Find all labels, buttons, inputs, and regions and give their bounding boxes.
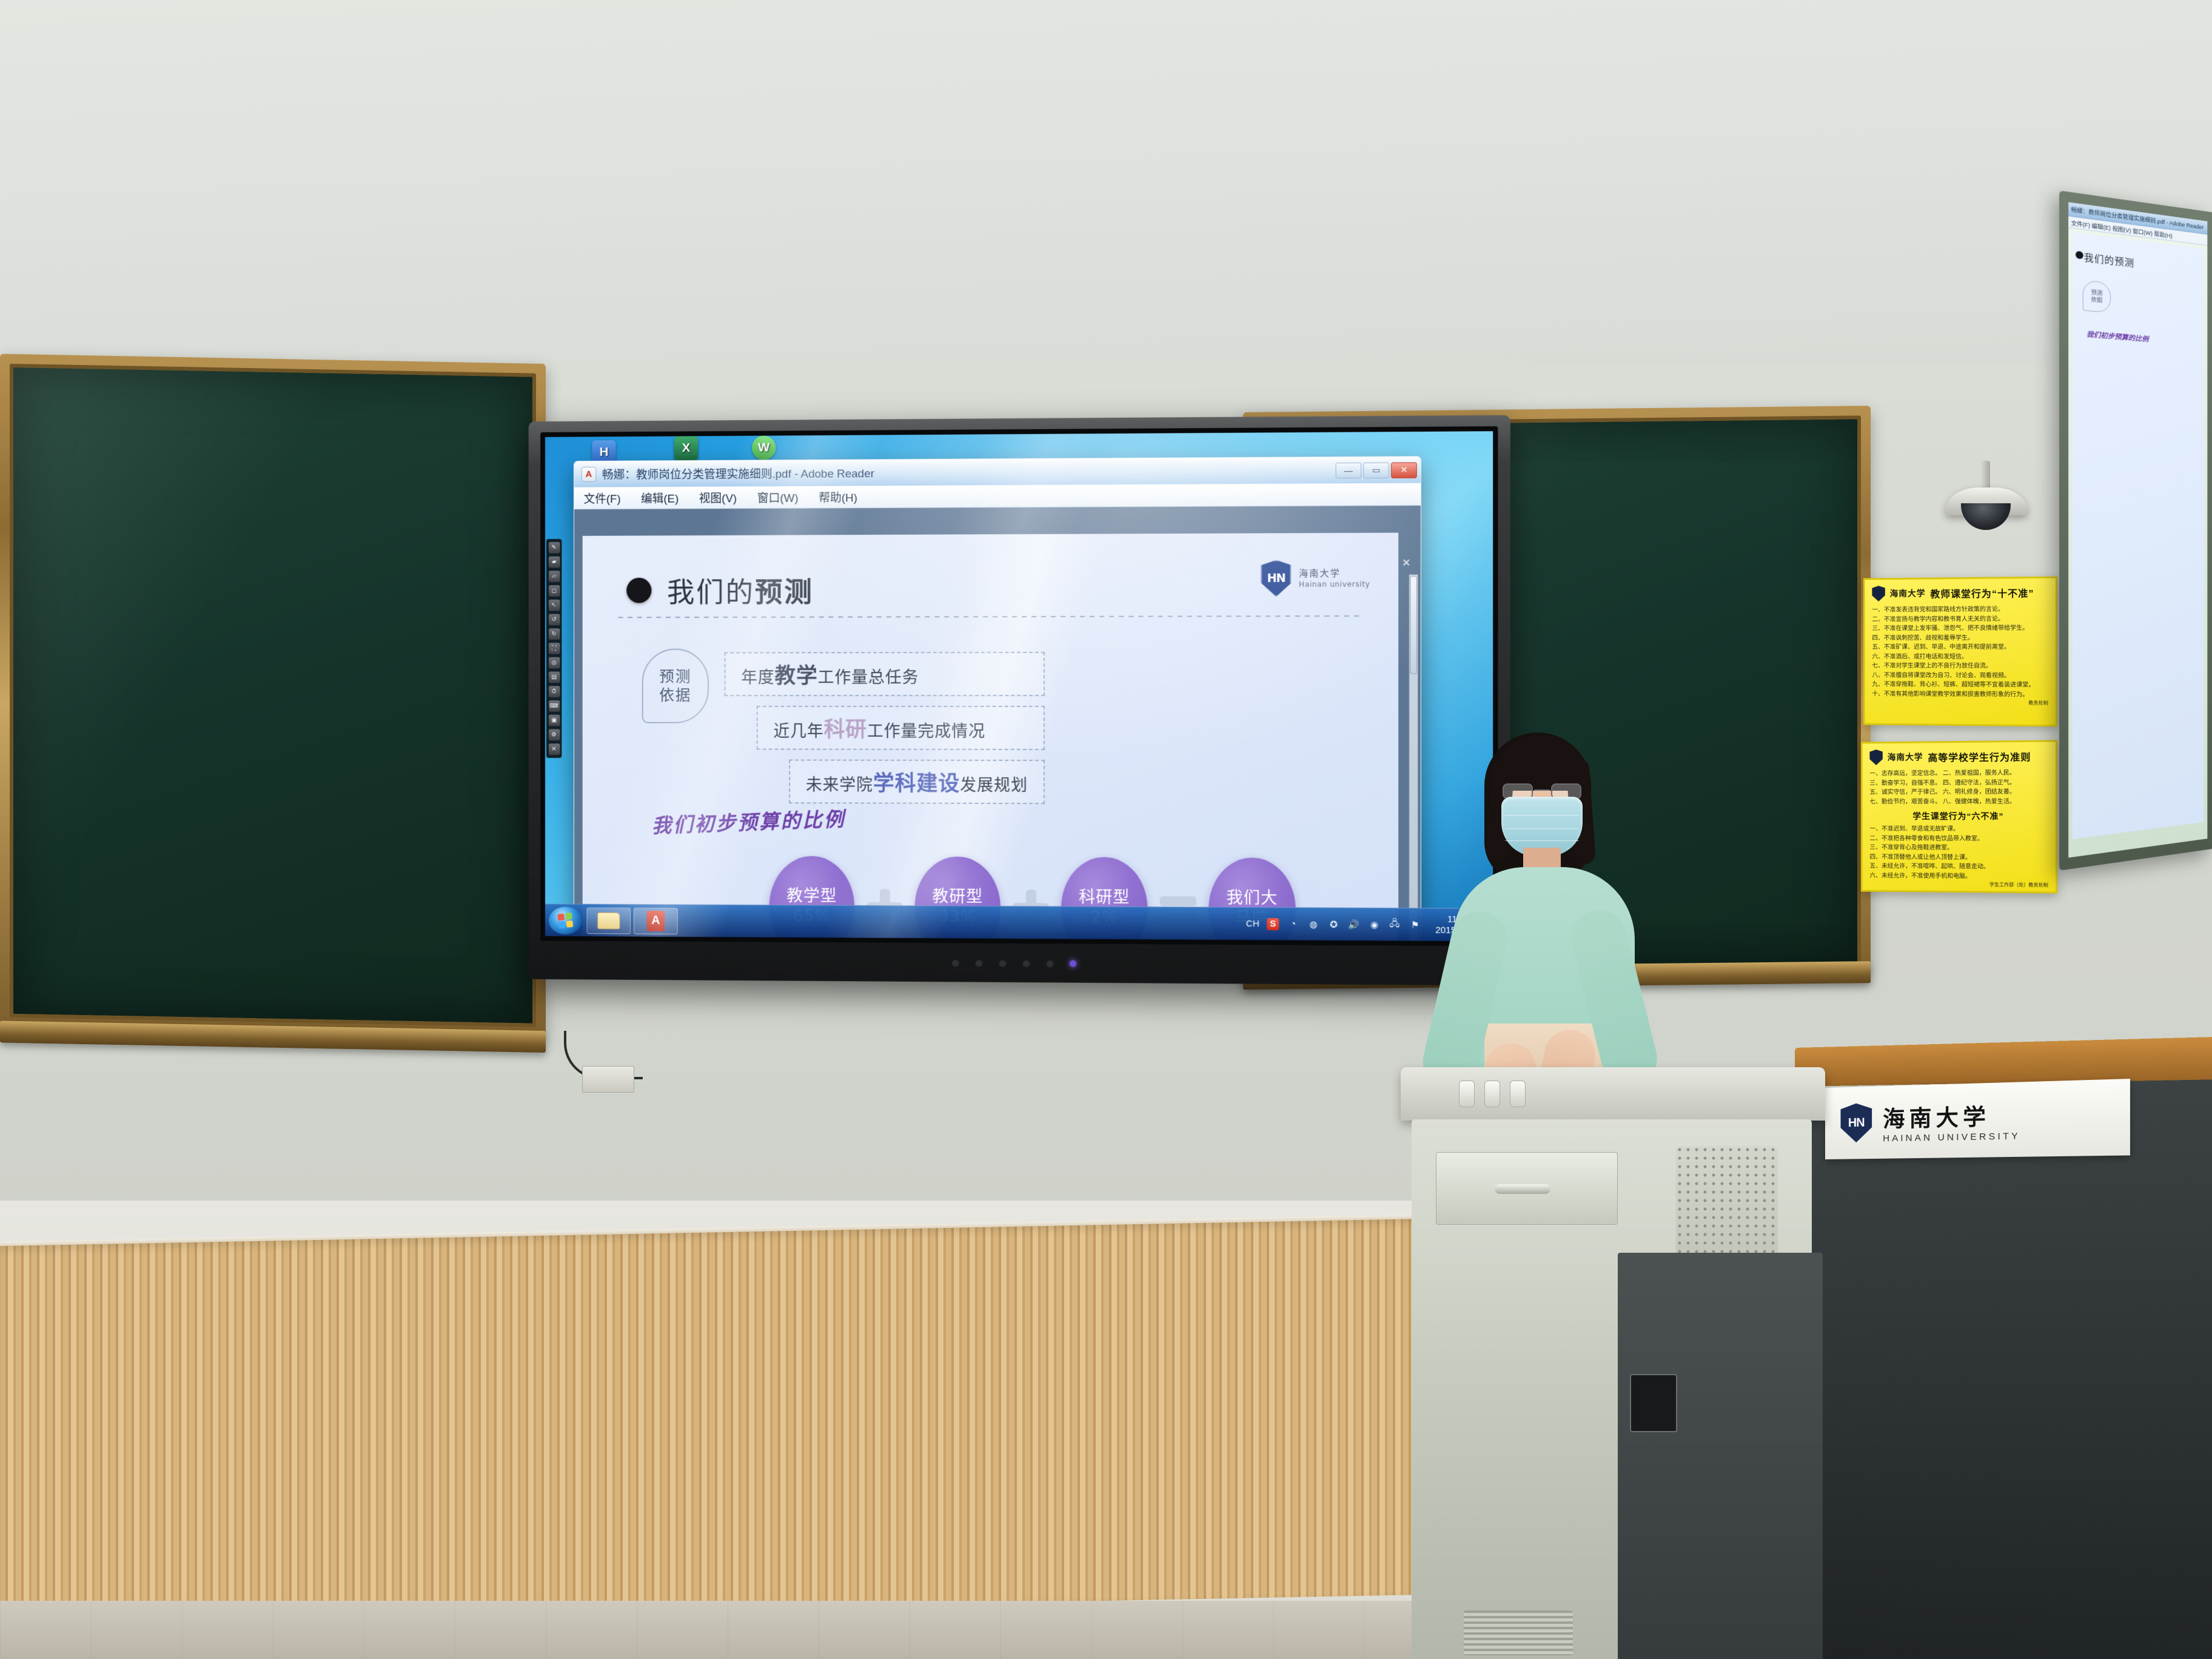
slide-title-accent: 预测 (755, 575, 814, 608)
taskbar-adobe-reader[interactable]: A (634, 907, 678, 934)
timer-icon[interactable]: ⏱ (548, 686, 560, 697)
eraser-icon[interactable]: ▱ (548, 571, 560, 582)
basis-post: 发展规划 (960, 776, 1028, 795)
panel-control-strip[interactable] (529, 940, 1510, 985)
student-conduct-poster: 海南大学 高等学校学生行为准则 一、志存高远，坚定信念。 二、热爱祖国，服务人民… (1861, 740, 2057, 893)
windows-taskbar[interactable]: A CH S ◔ ◍ ✪ 🔊 ◉ 🖧 ⚑ 11:32 2015/10/31 (545, 903, 1493, 941)
lectern-button[interactable] (1510, 1081, 1526, 1107)
teacher-conduct-poster: 海南大学 教师课堂行为“十不准” 一、不准发表违背党和国家路线方针政策的言论。 … (1863, 577, 2057, 727)
poster-line: 十、不准有其他影响课堂教学效果和损害教师形象的行为。 (1872, 689, 2048, 700)
panel-source-button[interactable] (999, 959, 1007, 967)
excel-desktop-icon[interactable]: X (664, 436, 708, 462)
security-tray-icon[interactable]: ✪ (1327, 918, 1339, 930)
select-icon[interactable]: ↖ (548, 600, 560, 611)
wood-wainscot (0, 1218, 1498, 1622)
bubble-label: 科研型 (1079, 888, 1130, 908)
nameplate-cn: 海南大学 (1883, 1098, 2020, 1133)
poster-title: 教师课堂行为“十不准” (1930, 585, 2034, 600)
start-button[interactable] (549, 907, 582, 934)
logo-names: 海南大学 Hainan university (1299, 567, 1370, 589)
spotlight-icon[interactable]: ◎ (548, 657, 560, 669)
language-indicator[interactable]: CH (1247, 917, 1259, 930)
maximize-button[interactable]: ▭ (1363, 462, 1389, 478)
pdf-slide-page: 我们的预测 HN 海南大学 Hainan university (583, 533, 1399, 942)
camera-icon[interactable]: ▣ (548, 715, 560, 726)
hainan-university-nameplate: HN 海南大学 HAINAN UNIVERSITY (1825, 1079, 2130, 1159)
basis-label-line-1: 预测 (659, 667, 691, 686)
interactive-flat-panel[interactable]: H X W PDF Q E 360 (529, 415, 1510, 986)
drawer-handle[interactable] (1495, 1184, 1550, 1194)
document-close-icon[interactable]: ✕ (1402, 557, 1411, 569)
basis-pre: 近几年 (773, 722, 823, 741)
folder-icon (597, 912, 620, 929)
secondary-handwriting: 我们初步预算的比例 (2086, 329, 2148, 344)
poster-line: 六、不准酒后、或打电话和发短信。 (1872, 652, 2048, 662)
lectern-button[interactable] (1484, 1081, 1500, 1107)
menu-edit[interactable]: 编辑(E) (641, 490, 679, 506)
basis-pre: 未来学院 (806, 776, 873, 794)
hn-shield-icon (1872, 586, 1885, 602)
poster-sub-line: 六、未经允许，不准使用手机和电脑。 (1869, 871, 2048, 882)
handwritten-note: 我们初步预算的比例 (651, 803, 846, 839)
poster-signature: 学生工作部（处）教务处制 (1869, 880, 2048, 890)
poster-org: 海南大学 (1888, 751, 1923, 763)
basis-label-line-2: 依据 (659, 686, 691, 705)
secondary-slide: 我们的预测 预测 依据 我们初步预算的比例 (2073, 232, 2204, 839)
reader-title-bar[interactable]: A 畅娜：教师岗位分类管理实施细则.pdf - Adobe Reader — ▭… (574, 457, 1421, 488)
reader-document-area: ✕ 我们的预测 HN 海南大 (574, 506, 1421, 941)
basis-highlight: 教学 (774, 664, 817, 688)
menu-view[interactable]: 视图(V) (699, 489, 737, 506)
poster-sub-line: 二、不准把各种零食和有色饮品带入教室。 (1869, 834, 2048, 843)
poster-header: 海南大学 高等学校学生行为准则 (1869, 748, 2048, 765)
window-controls[interactable]: — ▭ ✕ (1336, 462, 1417, 478)
hainan-university-logo: HN 海南大学 Hainan university (1261, 560, 1370, 597)
shape-icon[interactable]: ◻ (548, 585, 560, 597)
lectern-top-surface[interactable] (1401, 1067, 1825, 1121)
poster-line: 九、不准穿拖鞋、背心衫、短裤、超短裙等不宜着装进课堂。 (1872, 680, 2048, 690)
slide-divider (618, 615, 1362, 618)
basis-pre: 年度 (741, 668, 774, 687)
bubble-label: 教研型 (932, 887, 983, 907)
panel-status-led-icon (1070, 960, 1076, 967)
poster-sub-line: 四、不准顶替他人或让他人顶替上课。 (1869, 853, 2048, 863)
secondary-display[interactable]: 畅娜：教师岗位分类管理实施细则.pdf - Adobe Reader 文件(F)… (2059, 190, 2212, 871)
curtain-icon[interactable]: ▤ (548, 672, 560, 683)
excel-icon: X (674, 436, 698, 460)
poster-sub-line: 一、不准迟到、早退或无故旷课。 (1869, 825, 2048, 834)
antivirus-tray-icon[interactable]: ◉ (1368, 918, 1380, 930)
lectern-equipment-bay (1618, 1253, 1823, 1659)
disc-tray-icon[interactable]: ◍ (1307, 918, 1319, 930)
prediction-basis-list: 年度教学工作量总任务 近几年科研工作量完成情况 未来学院学科建设发展规划 (725, 648, 1045, 804)
slide-header: 我们的预测 (626, 570, 814, 610)
highlighter-icon[interactable]: ▰ (548, 557, 560, 568)
secondary-basis-pill: 预测 依据 (2083, 280, 2111, 313)
capture-icon[interactable]: ⛶ (548, 643, 560, 654)
sogou-tray-icon[interactable]: S (1267, 918, 1279, 930)
menu-window[interactable]: 窗口(W) (757, 489, 799, 506)
volume-tray-icon[interactable]: 🔊 (1348, 918, 1360, 930)
poster-signature: 教务处制 (1872, 699, 2048, 707)
basis-item-research: 近几年科研工作量完成情况 (757, 706, 1045, 750)
basis-post: 工作量总任务 (818, 668, 919, 687)
poster-line: 七、不准对学生课堂上的不良行为放任自流。 (1872, 662, 2048, 671)
scrollbar-thumb[interactable] (1410, 576, 1417, 674)
settings-icon[interactable]: ⚙ (548, 729, 560, 740)
lectern-drawer[interactable] (1436, 1152, 1618, 1225)
annotation-toolbar[interactable]: ✎ ▰ ▱ ◻ ↖ ↺ ↻ ⛶ ◎ ▤ ⏱ ⌨ ▣ ⚙ ✕ (546, 539, 561, 758)
lectern-body (1412, 1119, 1812, 1659)
lectern-connector-panel[interactable] (1630, 1374, 1677, 1432)
blackboard-left (0, 354, 546, 1037)
poster-line: 一、志存高远，坚定信念。 二、热爱祖国，服务人民。 (1869, 768, 2048, 779)
poster-line: 五、诚实守信，严于律己。 六、明礼修身，团结友善。 (1869, 787, 2048, 797)
poster-org: 海南大学 (1890, 587, 1926, 599)
poster-line: 五、不准矿课、迟到、早退、中途离开和提前离堂。 (1872, 643, 2048, 652)
basis-item-teaching: 年度教学工作量总任务 (725, 652, 1045, 696)
panel-volume-up-button[interactable] (1046, 959, 1054, 967)
windows-logo-icon (557, 912, 573, 928)
lectern-vent (1464, 1610, 1573, 1655)
bubble-label: 教学型 (786, 886, 837, 907)
logo-name-en: Hainan university (1299, 579, 1370, 589)
pill-line-2: 依据 (2091, 296, 2103, 304)
hn-shield-icon (1869, 749, 1882, 765)
poster-line: 七、勤俭节约，艰苦奋斗。 八、强健体魄，热爱生活。 (1869, 797, 2048, 806)
poster-line: 八、不准擅自将课堂改为自习、讨论会、观看视频。 (1872, 671, 2048, 680)
menu-help[interactable]: 帮助(H) (819, 489, 857, 505)
menu-file[interactable]: 文件(F) (584, 490, 621, 506)
panel-menu-button[interactable] (975, 959, 983, 967)
reader-menu-bar[interactable]: 文件(F) 编辑(E) 视图(V) 窗口(W) 帮助(H) (574, 484, 1421, 510)
keyboard-icon[interactable]: ⌨ (548, 700, 560, 712)
reader-window-title: 畅娜：教师岗位分类管理实施细则.pdf - Adobe Reader (602, 462, 1329, 482)
panel-screen[interactable]: H X W PDF Q E 360 (545, 431, 1493, 941)
lectern-control-buttons[interactable] (1459, 1081, 1526, 1107)
wall-upper (0, 0, 2212, 388)
cloud-tray-icon[interactable]: ◔ (1287, 918, 1299, 930)
blackboard-left-surface (10, 364, 536, 1027)
basis-highlight: 科研 (824, 718, 867, 742)
poster-subtitle: 学生课堂行为“六不准” (1869, 810, 2048, 822)
poster-header: 海南大学 教师课堂行为“十不准” (1872, 585, 2048, 602)
glasses-bridge (1534, 789, 1550, 791)
hn-shield-icon: HN (1261, 560, 1292, 597)
secondary-slide-title: 我们的预测 (2084, 250, 2134, 270)
basis-item-discipline: 未来学院学科建设发展规划 (789, 759, 1045, 804)
network-tray-icon[interactable]: 🖧 (1389, 919, 1401, 931)
redo-icon[interactable]: ↻ (548, 628, 560, 640)
panel-power-button[interactable] (951, 959, 959, 967)
bullet-icon (2076, 250, 2083, 259)
lectern[interactable]: HN 海南大学 HAINAN UNIVERSITY (1401, 1067, 1825, 1659)
camera-dome-icon (1961, 503, 2011, 530)
result-line-1: 我们大 (1226, 889, 1278, 910)
wechat-desktop-icon[interactable]: W (742, 435, 786, 461)
close-icon[interactable]: ✕ (548, 743, 560, 755)
pen-icon[interactable]: ✎ (548, 542, 560, 554)
secondary-display-screen[interactable]: 畅娜：教师岗位分类管理实施细则.pdf - Adobe Reader 文件(F)… (2068, 202, 2207, 857)
wechat-icon: W (752, 435, 776, 460)
panel-volume-down-button[interactable] (1022, 959, 1030, 967)
undo-icon[interactable]: ↺ (548, 614, 560, 626)
poster-sub-line: 五、未经允许，不准喧哗、起哄、随意走动。 (1869, 862, 2048, 872)
adobe-reader-icon: A (647, 911, 665, 931)
wall-outlet-box (582, 1066, 634, 1093)
prediction-basis-block: 预测 依据 年度教学工作量总任务 近几年科研工作量完成情况 未来学院学科建设发展… (642, 648, 1045, 804)
poster-line: 三、勤奋学习，自强不息。 四、遵纪守法，弘扬正气。 (1869, 778, 2048, 788)
bullet-icon (626, 578, 651, 603)
poster-line: 二、不准宣扬与教学内容和教书育人无关的言论。 (1872, 614, 2048, 625)
classroom-scene: 海南大学 教师课堂行为“十不准” 一、不准发表违背党和国家路线方针政策的言论。 … (0, 0, 2212, 1659)
ceiling-camera (1934, 461, 2049, 534)
taskbar-explorer[interactable] (587, 907, 631, 934)
slide-title-plain: 我们的 (667, 575, 755, 608)
prediction-basis-label: 预测 依据 (642, 649, 709, 723)
page-title: 我们的预测 (667, 570, 814, 610)
blackboard-sheen (13, 367, 532, 1024)
poster-title: 高等学校学生行为准则 (1928, 749, 2031, 764)
nameplate-en: HAINAN UNIVERSITY (1883, 1130, 2020, 1144)
adobe-reader-window[interactable]: A 畅娜：教师岗位分类管理实施细则.pdf - Adobe Reader — ▭… (574, 456, 1421, 941)
poster-line: 一、不准发表违背党和国家路线方针政策的言论。 (1872, 605, 2048, 615)
poster-line: 四、不准讽刺挖苦、歧视和羞辱学生。 (1872, 633, 2048, 643)
close-button[interactable]: ✕ (1391, 462, 1417, 478)
hn-shield-icon: HN (1841, 1103, 1872, 1143)
basis-highlight: 学科建设 (873, 772, 960, 796)
panel-bezel: H X W PDF Q E 360 (540, 426, 1498, 947)
basis-post: 工作量完成情况 (867, 722, 985, 741)
nameplate-text: 海南大学 HAINAN UNIVERSITY (1883, 1098, 2020, 1144)
lectern-button[interactable] (1459, 1081, 1475, 1107)
adobe-reader-icon: A (581, 467, 596, 482)
poster-line: 三、不准在课堂上发牢骚、泄怨气、把不良情绪带给学生。 (1872, 623, 2048, 633)
poster-sub-line: 三、不准穿背心及拖鞋进教室。 (1869, 843, 2048, 854)
minimize-button[interactable]: — (1336, 462, 1362, 478)
logo-name-cn: 海南大学 (1299, 567, 1370, 580)
